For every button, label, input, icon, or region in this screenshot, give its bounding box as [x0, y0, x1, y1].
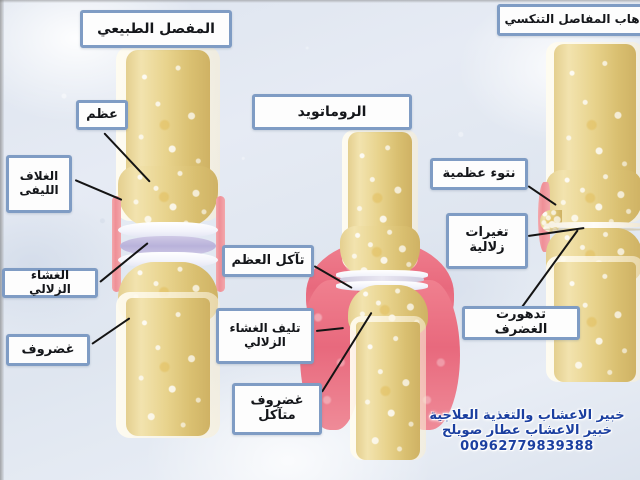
watermark-line-2: خبير الاعشاب عطار صويلح: [418, 423, 636, 438]
label-synovial-membrane-text: الغشاء الزلالي: [9, 269, 91, 297]
label-fibrous-capsule[interactable]: الغلافالليفى: [6, 155, 72, 213]
label-cartilage-deterioration[interactable]: تدهورت الغضرف: [462, 306, 580, 340]
label-cartilage-deterioration-text: تدهورت الغضرف: [469, 308, 573, 338]
label-cartilage-text: غضروف: [13, 343, 83, 358]
label-bone-spurs-text: نتوء عظمية: [437, 167, 521, 182]
label-bone-text: عظم: [83, 108, 121, 123]
label-synovial-fibrosis-text: تليف الغشاءالزلالي: [223, 322, 307, 350]
label-eroded-cartilage-text: غضروفمتآكل: [239, 394, 315, 424]
label-degenerative-arthritis-text: هاب المفاصل التنكسي: [504, 13, 640, 27]
left-edge-artifact: [0, 0, 4, 480]
label-synovial-changes[interactable]: تغيراتزلالية: [446, 213, 528, 269]
label-bone-spurs[interactable]: نتوء عظمية: [430, 158, 528, 190]
label-normal-joint[interactable]: المفصل الطبيعي: [80, 10, 232, 48]
label-bone-erosion[interactable]: تآكل العظم: [222, 245, 314, 277]
watermark-phone: 00962779839388: [418, 439, 636, 454]
top-edge-artifact: [0, 0, 640, 3]
label-synovial-changes-text: تغيراتزلالية: [453, 226, 521, 256]
label-bone-erosion-text: تآكل العظم: [229, 254, 307, 269]
label-synovial-membrane[interactable]: الغشاء الزلالي: [2, 268, 98, 298]
watermark-line-1: خبير الاعشاب والتغذية العلاجية: [418, 408, 636, 423]
label-rheumatoid[interactable]: الروماتويد: [252, 94, 412, 130]
label-eroded-cartilage[interactable]: غضروفمتآكل: [232, 383, 322, 435]
label-fibrous-capsule-text: الغلافالليفى: [13, 170, 65, 198]
diagram-canvas: المفصل الطبيعي هاب المفاصل التنكسي الروم…: [0, 0, 640, 480]
label-degenerative-arthritis[interactable]: هاب المفاصل التنكسي: [497, 4, 640, 36]
label-rheumatoid-text: الروماتويد: [259, 104, 405, 120]
watermark: خبير الاعشاب والتغذية العلاجية خبير الاع…: [418, 408, 636, 454]
label-bone[interactable]: عظم: [76, 100, 128, 130]
label-synovial-fibrosis[interactable]: تليف الغشاءالزلالي: [216, 308, 314, 364]
label-cartilage[interactable]: غضروف: [6, 334, 90, 366]
label-normal-joint-text: المفصل الطبيعي: [87, 21, 225, 37]
